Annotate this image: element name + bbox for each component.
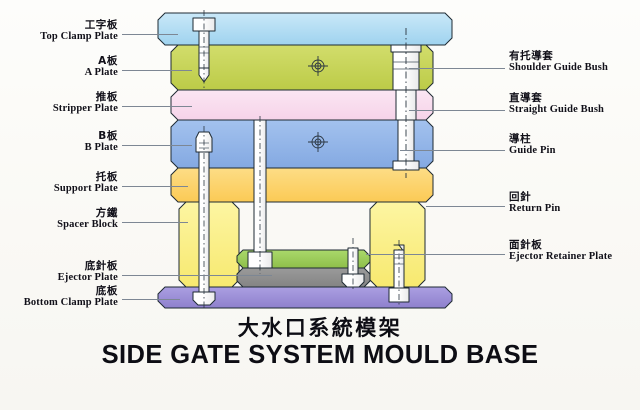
label-cn: 托板 <box>54 172 118 183</box>
label-guide-pin: 導柱 Guide Pin <box>509 134 556 157</box>
leader-line <box>409 110 505 111</box>
label-en: Support Plate <box>54 183 118 194</box>
leader-line <box>122 106 192 107</box>
label-cn: 工字板 <box>40 20 118 31</box>
label-en: Bottom Clamp Plate <box>24 297 118 308</box>
label-en: Guide Pin <box>509 145 556 156</box>
label-a-plate: A板 A Plate <box>85 56 118 79</box>
support-plate <box>171 168 433 202</box>
leader-line <box>426 206 505 207</box>
label-cn: 面針板 <box>509 240 612 251</box>
label-ejector-retainer-plate: 面針板 Ejector Retainer Plate <box>509 240 612 263</box>
leader-line <box>409 68 505 69</box>
leader-line <box>122 222 188 223</box>
label-en: Ejector Retainer Plate <box>509 251 612 262</box>
socket-head-cap-screw-shank <box>199 31 209 68</box>
leader-line <box>366 254 505 255</box>
label-en: B Plate <box>85 142 118 153</box>
label-cn: 底針板 <box>58 261 118 272</box>
label-cn: 導柱 <box>509 134 556 145</box>
label-cn: 底板 <box>24 286 118 297</box>
leader-line <box>122 70 192 71</box>
stripper-plate <box>171 90 433 120</box>
leader-line <box>400 150 505 151</box>
label-cn: 推板 <box>53 92 118 103</box>
label-cn: 方鐵 <box>57 208 118 219</box>
label-en: Top Clamp Plate <box>40 31 118 42</box>
label-top-clamp-plate: 工字板 Top Clamp Plate <box>40 20 118 43</box>
label-cn: B板 <box>85 131 118 142</box>
label-en: Return Pin <box>509 203 560 214</box>
label-b-plate: B板 B Plate <box>85 131 118 154</box>
label-cn: 回針 <box>509 192 560 203</box>
label-stripper-plate: 推板 Stripper Plate <box>53 92 118 115</box>
label-bottom-clamp-plate: 底板 Bottom Clamp Plate <box>24 286 118 309</box>
leader-line <box>122 34 178 35</box>
label-en: Stripper Plate <box>53 103 118 114</box>
label-straight-guide-bush: 直導套 Straight Guide Bush <box>509 93 604 116</box>
label-en: A Plate <box>85 67 118 78</box>
label-support-plate: 托板 Support Plate <box>54 172 118 195</box>
label-cn: 直導套 <box>509 93 604 104</box>
leader-line <box>122 299 180 300</box>
title-english: SIDE GATE SYSTEM MOULD BASE <box>0 341 640 370</box>
leader-line <box>122 145 192 146</box>
label-en: Spacer Block <box>57 219 118 230</box>
diagram-page: 工字板 Top Clamp Plate A板 A Plate 推板 Stripp… <box>0 0 640 410</box>
label-cn: A板 <box>85 56 118 67</box>
label-ejector-plate: 底針板 Ejector Plate <box>58 261 118 284</box>
label-cn: 有托導套 <box>509 51 608 62</box>
label-shoulder-guide-bush: 有托導套 Shoulder Guide Bush <box>509 51 608 74</box>
label-return-pin: 回針 Return Pin <box>509 192 560 215</box>
label-en: Shoulder Guide Bush <box>509 62 608 73</box>
label-en: Ejector Plate <box>58 272 118 283</box>
title-chinese: 大水口系統模架 <box>0 312 640 342</box>
leader-line <box>122 275 272 276</box>
leader-line <box>122 186 188 187</box>
label-en: Straight Guide Bush <box>509 104 604 115</box>
label-spacer-block: 方鐵 Spacer Block <box>57 208 118 231</box>
